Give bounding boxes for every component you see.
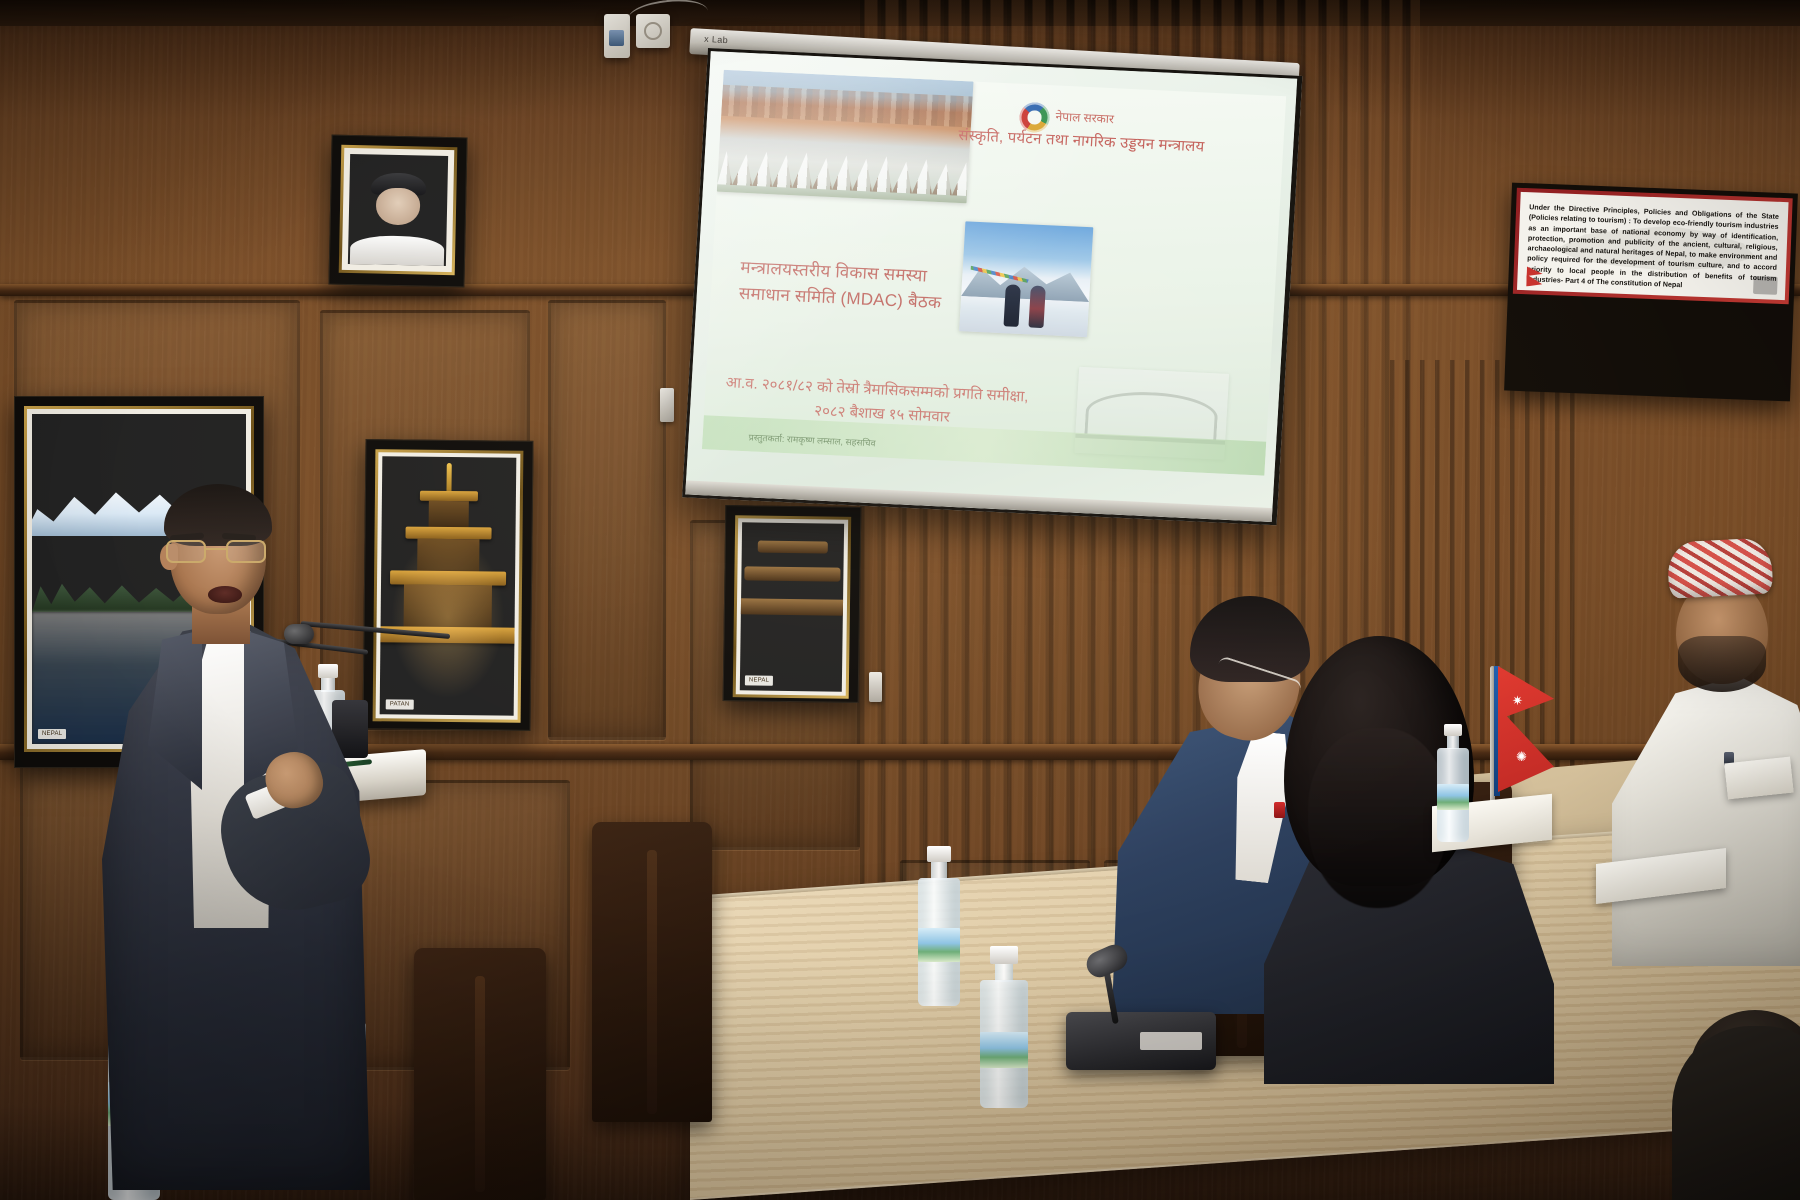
conference-room-photo: NEPAL PATAN bbox=[0, 0, 1800, 1200]
wall-switch-right-icon[interactable] bbox=[869, 672, 882, 702]
housing-brand-label: x Lab bbox=[704, 34, 729, 45]
chair-slat bbox=[647, 850, 657, 1114]
glasses-lens-right bbox=[226, 540, 266, 563]
bottle-label bbox=[1437, 784, 1469, 810]
constitution-tourism-poster: Under the Directive Principles, Policies… bbox=[1504, 183, 1798, 402]
hair-strands bbox=[1308, 728, 1448, 908]
city-skyline bbox=[721, 84, 973, 127]
small-temple-roof-1 bbox=[758, 541, 828, 554]
temple-light-glow bbox=[380, 456, 517, 715]
glasses-bridge bbox=[206, 548, 226, 550]
water-bottle-table-1 bbox=[914, 846, 964, 1006]
trekker-figure-2 bbox=[1029, 286, 1046, 329]
wall-junction-box-icon bbox=[636, 14, 670, 48]
bottle-cap bbox=[1444, 724, 1462, 736]
picture-caption-temple: NEPAL bbox=[745, 675, 773, 685]
bottle-label bbox=[918, 928, 960, 962]
daura-white-garment bbox=[1612, 676, 1800, 966]
speaker-at-podium bbox=[96, 470, 396, 1200]
small-temple-roof-2 bbox=[744, 566, 840, 581]
dhaka-topi-icon bbox=[1667, 537, 1774, 598]
cable-coil bbox=[644, 22, 662, 40]
wall-switch-left-icon[interactable] bbox=[660, 388, 674, 422]
flag-cloth bbox=[1498, 666, 1554, 792]
wall-panel-3 bbox=[548, 300, 666, 740]
flag-sun-icon: ✺ bbox=[1516, 750, 1527, 763]
presentation-slide: नेपाल सरकार संस्कृति, पर्यटन तथा नागरिक … bbox=[702, 70, 1286, 476]
pagoda-artwork: PATAN bbox=[380, 456, 517, 715]
ministry-logo-icon bbox=[1753, 276, 1778, 295]
conference-chair-left-2[interactable] bbox=[414, 948, 546, 1200]
wall-control-box-icon[interactable] bbox=[604, 14, 630, 58]
screen-surface: नेपाल सरकार संस्कृति, पर्यटन तथा नागरिक … bbox=[685, 51, 1297, 522]
name-card-right bbox=[1724, 757, 1793, 800]
framed-portrait-official bbox=[328, 135, 467, 288]
conference-chair-left[interactable] bbox=[592, 822, 712, 1122]
slide-date-line-1: आ.व. २०८१/८२ को तेस्रो त्रैमासिकसम्मको प… bbox=[725, 372, 1029, 406]
trekker-figure-1 bbox=[1003, 285, 1020, 328]
stupa-row bbox=[717, 128, 970, 196]
speaker-mouth bbox=[208, 586, 242, 603]
bridge-arch bbox=[1084, 390, 1218, 441]
water-bottle-table-2 bbox=[976, 946, 1032, 1106]
slide-ministry-line: संस्कृति, पर्यटन तथा नागरिक उड्डयन मन्त्… bbox=[958, 125, 1205, 157]
bottle-label bbox=[980, 1032, 1028, 1068]
projection-screen: नेपाल सरकार संस्कृति, पर्यटन तथा नागरिक … bbox=[682, 48, 1302, 525]
bottle-cap bbox=[927, 846, 951, 862]
chair-slat bbox=[475, 976, 485, 1192]
small-temple-roof-3 bbox=[740, 598, 844, 616]
bottle-cap bbox=[990, 946, 1018, 964]
table-microphone[interactable] bbox=[1052, 946, 1232, 1076]
picture-caption-left: NEPAL bbox=[38, 729, 66, 739]
water-bottle-table-3 bbox=[1434, 724, 1472, 842]
framed-temple-photo-small: NEPAL bbox=[723, 505, 862, 703]
temple-small-artwork: NEPAL bbox=[740, 522, 844, 691]
poster-text: Under the Directive Principles, Policies… bbox=[1526, 202, 1779, 294]
slide-government-line: नेपाल सरकार bbox=[1055, 107, 1114, 127]
control-box-display bbox=[609, 30, 624, 46]
flag-moon-icon: ✷ bbox=[1512, 694, 1523, 707]
attendee-dhaka-topi bbox=[1606, 540, 1800, 970]
microphone-label bbox=[1140, 1032, 1202, 1050]
himalaya-trekkers-photo bbox=[959, 221, 1093, 337]
glasses-lens-left bbox=[166, 540, 206, 563]
emblem-center bbox=[1028, 111, 1042, 125]
portrait-face bbox=[376, 188, 421, 226]
boudhanath-aerial-photo bbox=[717, 70, 974, 204]
eyeglasses-icon bbox=[164, 540, 272, 564]
attendee-beard bbox=[1678, 636, 1766, 692]
portrait-shoulders bbox=[350, 235, 445, 266]
portrait-artwork bbox=[348, 154, 448, 266]
